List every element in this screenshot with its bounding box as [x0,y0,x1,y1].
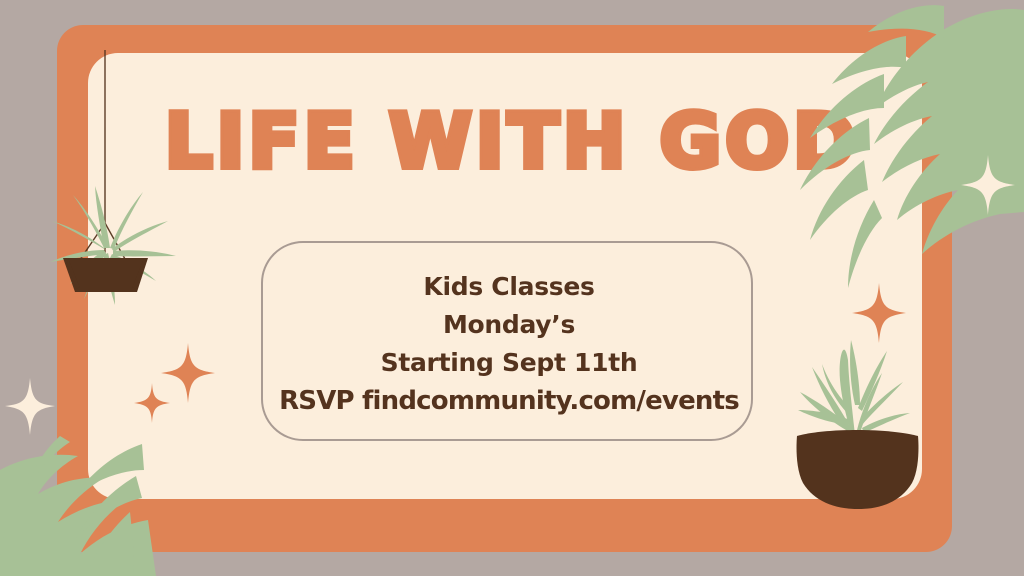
page-title: LIFE WITH GOD [0,104,1024,179]
info-line-rsvp-url: RSVP findcommunity.com/events [263,382,755,420]
sparkle-cream-left [5,378,55,435]
info-line-mondays: Monday’s [263,306,755,344]
info-line-kids-classes: Kids Classes [263,268,755,306]
info-box: Kids Classes Monday’s Starting Sept 11th… [261,241,753,441]
poster-canvas: LIFE WITH GOD Kids Classes Monday’s Star… [0,0,1024,576]
page-title-text: LIFE WITH GOD [165,97,860,185]
info-lines: Kids Classes Monday’s Starting Sept 11th… [263,268,755,420]
info-line-start-date: Starting Sept 11th [263,344,755,382]
